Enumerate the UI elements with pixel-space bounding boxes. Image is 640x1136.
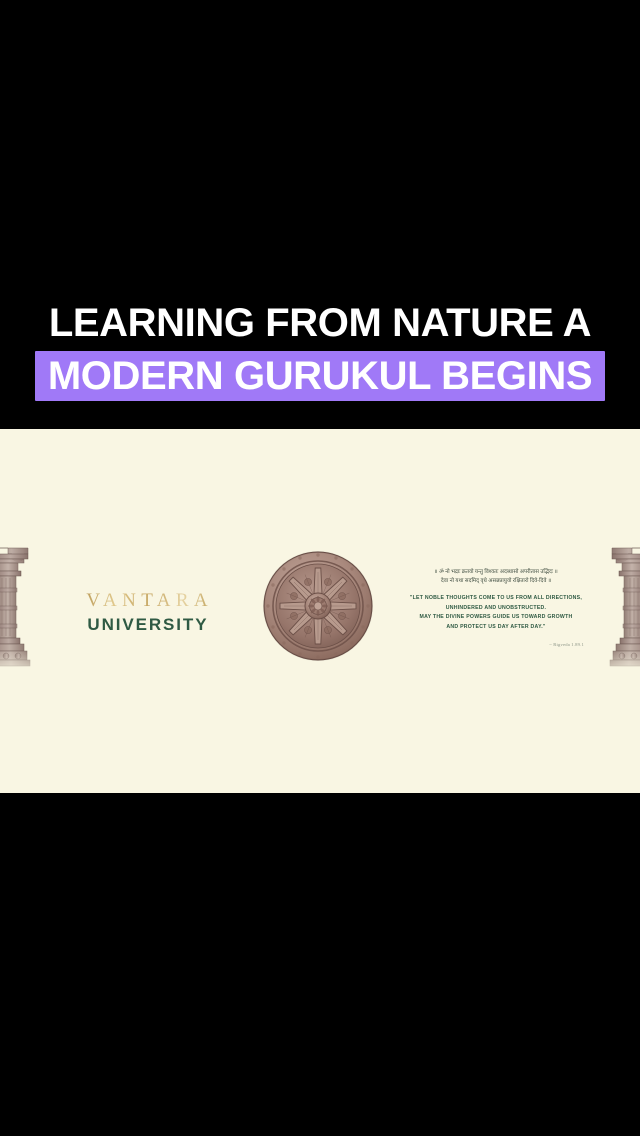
mantra-translation-line-1: "LET NOBLE THOUGHTS COME TO US FROM ALL … [404,594,588,603]
mantra-block: ॥ ॐ नो भद्राः क्रतवो यन्तु विश्वतः अदब्ध… [404,568,588,648]
caption-overlay: LEARNING FROM NATURE A MODERN GURUKUL BE… [0,300,640,410]
caption-line-2-wrapper: MODERN GURUKUL BEGINS [0,351,640,401]
mantra-translation-line-2: UNHINDERED AND UNOBSTRUCTED. [404,604,588,613]
mantra-translation-line-4: AND PROTECT US DAY AFTER DAY." [404,623,588,632]
caption-line-1: LEARNING FROM NATURE A [0,300,640,346]
mantra-sanskrit-line-2: देवा नो यथा सदमिद् वृधे असन्नप्रायुवो रक… [404,577,588,586]
mantra-sanskrit-line-1: ॥ ॐ नो भद्राः क्रतवो यन्तु विश्वतः अदब्ध… [404,568,588,577]
mantra-attribution: ~ Rigveda 1.89.1 [404,641,588,648]
brand-lockup: VANTARA UNIVERSITY [74,590,220,635]
konark-chariot-wheel-icon [262,550,374,662]
brand-subtitle: UNIVERSITY [74,615,220,635]
carved-stone-pillar-left-icon [0,528,34,680]
mantra-translation-line-3: MAY THE DIVINE POWERS GUIDE US TOWARD GR… [404,613,588,622]
caption-line-2-highlight: MODERN GURUKUL BEGINS [35,351,605,401]
video-frame: VANTARA UNIVERSITY [0,0,640,1136]
carved-stone-pillar-right-icon [606,528,640,680]
brand-name: VANTARA [74,590,220,612]
